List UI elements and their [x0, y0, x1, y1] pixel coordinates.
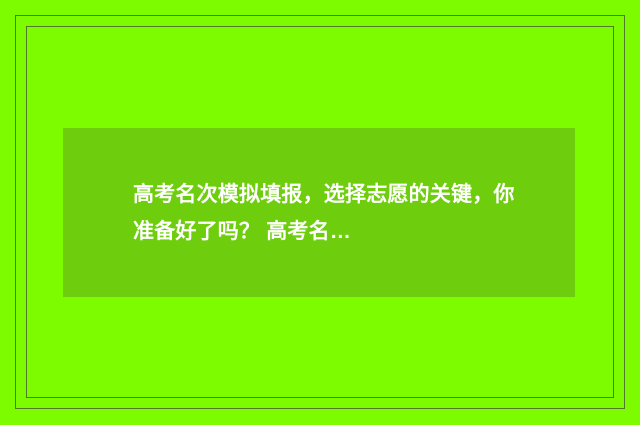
headline-panel: 高考名次模拟填报，选择志愿的关键，你准备好了吗？ 高考名…: [63, 128, 575, 297]
placeholder-canvas: 高考名次模拟填报，选择志愿的关键，你准备好了吗？ 高考名…: [0, 0, 640, 425]
headline-text: 高考名次模拟填报，选择志愿的关键，你准备好了吗？ 高考名…: [63, 176, 575, 250]
